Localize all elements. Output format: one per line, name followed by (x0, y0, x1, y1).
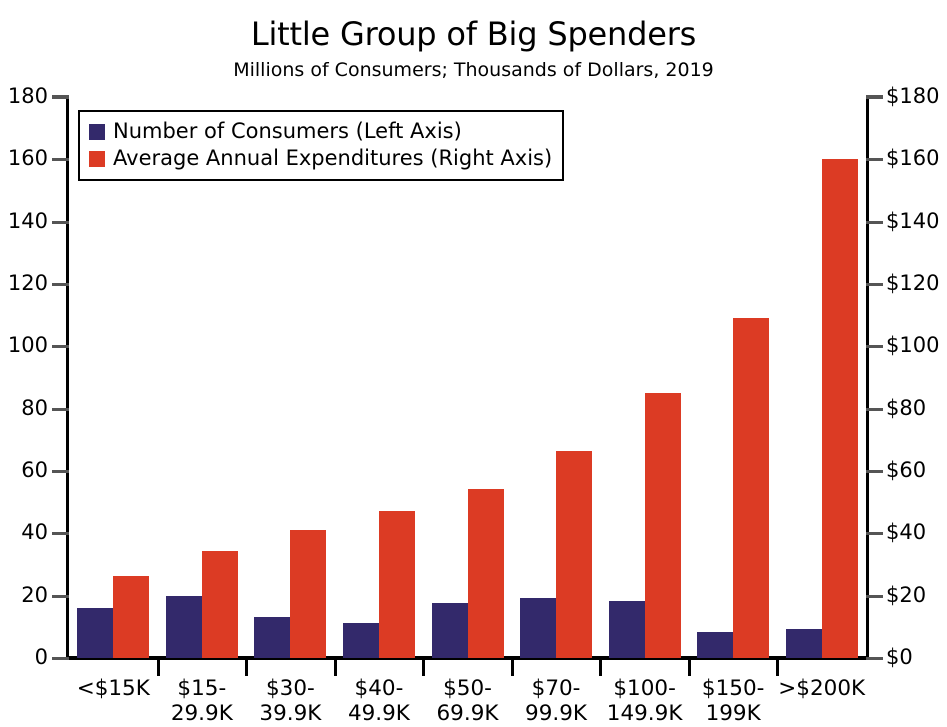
left-axis-tick-label: 160 (0, 148, 48, 169)
left-axis-tick-label: 180 (0, 86, 48, 107)
x-axis-category-label: $15- 29.9K (158, 676, 247, 726)
right-axis-tick (866, 470, 883, 473)
bar-group (520, 97, 592, 658)
x-axis-tick (776, 658, 779, 676)
right-axis-tick (866, 283, 883, 286)
left-axis-tick-label: 100 (0, 335, 48, 356)
left-axis-tick-label: 140 (0, 211, 48, 232)
x-axis-category-label: <$15K (69, 676, 158, 701)
x-axis-tick (157, 658, 160, 676)
left-axis-tick (52, 532, 69, 535)
left-axis-tick (52, 221, 69, 224)
bar-consumers[interactable] (343, 623, 379, 658)
right-axis-tick-label: $120 (886, 273, 947, 294)
bar-consumers[interactable] (254, 617, 290, 658)
chart-container: Little Group of Big Spenders Millions of… (0, 0, 947, 727)
bar-consumers[interactable] (432, 603, 468, 658)
left-axis-tick (52, 595, 69, 598)
legend-swatch-consumers-icon (89, 124, 105, 140)
bar-group (697, 97, 769, 658)
bar-consumers[interactable] (786, 629, 822, 658)
left-axis-tick (52, 96, 69, 99)
right-axis-tick-label: $140 (886, 211, 947, 232)
right-axis-tick (866, 532, 883, 535)
left-axis-tick (52, 408, 69, 411)
right-axis-tick-label: $100 (886, 335, 947, 356)
bar-expenditures[interactable] (202, 551, 238, 658)
right-axis-tick-label: $40 (886, 522, 947, 543)
bar-expenditures[interactable] (379, 511, 415, 658)
x-axis-category-label: $30- 39.9K (246, 676, 335, 726)
chart-subtitle: Millions of Consumers; Thousands of Doll… (0, 61, 947, 81)
x-axis-category-label: $150- 199K (689, 676, 778, 726)
bar-group (77, 97, 149, 658)
bar-consumers[interactable] (520, 598, 556, 658)
legend-item-consumers[interactable]: Number of Consumers (Left Axis) (89, 118, 552, 145)
right-axis-tick-label: $160 (886, 148, 947, 169)
bar-group (609, 97, 681, 658)
x-axis-category-label: $50- 69.9K (423, 676, 512, 726)
x-axis-category-label: >$200K (777, 676, 866, 701)
left-axis-tick-label: 40 (0, 522, 48, 543)
bar-consumers[interactable] (697, 632, 733, 658)
legend-item-expenditures[interactable]: Average Annual Expenditures (Right Axis) (89, 145, 552, 172)
left-axis-tick-label: 0 (0, 647, 48, 668)
bar-expenditures[interactable] (556, 451, 592, 658)
x-axis-category-label: $70- 99.9K (512, 676, 601, 726)
x-axis-tick (245, 658, 248, 676)
bar-group (786, 97, 858, 658)
left-axis-tick-label: 80 (0, 398, 48, 419)
left-axis-tick (52, 283, 69, 286)
x-axis-labels: <$15K$15- 29.9K$30- 39.9K$40- 49.9K$50- … (69, 676, 866, 727)
bar-group (432, 97, 504, 658)
right-axis-tick (866, 345, 883, 348)
bar-group (254, 97, 326, 658)
bar-groups (69, 97, 866, 658)
bar-consumers[interactable] (166, 596, 202, 658)
left-axis-tick-label: 20 (0, 585, 48, 606)
x-axis-tick (422, 658, 425, 676)
bar-consumers[interactable] (77, 608, 113, 658)
right-axis-tick-label: $60 (886, 460, 947, 481)
x-axis-tick (511, 658, 514, 676)
right-axis-tick (866, 657, 883, 660)
left-axis-tick (52, 470, 69, 473)
x-axis-tick (688, 658, 691, 676)
right-axis-tick-label: $80 (886, 398, 947, 419)
bar-group (343, 97, 415, 658)
bar-expenditures[interactable] (290, 530, 326, 658)
bar-group (166, 97, 238, 658)
right-axis-tick-label: $0 (886, 647, 947, 668)
legend-swatch-expenditures-icon (89, 151, 105, 167)
bar-expenditures[interactable] (822, 159, 858, 658)
right-axis-tick (866, 408, 883, 411)
bar-expenditures[interactable] (645, 393, 681, 658)
left-axis-tick (52, 345, 69, 348)
legend-label-consumers: Number of Consumers (Left Axis) (113, 121, 462, 142)
chart-title: Little Group of Big Spenders (0, 18, 947, 52)
right-axis-tick (866, 595, 883, 598)
bar-expenditures[interactable] (733, 318, 769, 658)
x-axis-category-label: $100- 149.9K (600, 676, 689, 726)
x-axis-tick (334, 658, 337, 676)
bar-expenditures[interactable] (113, 576, 149, 658)
left-axis-tick (52, 158, 69, 161)
left-axis-tick (52, 657, 69, 660)
right-axis-tick-label: $20 (886, 585, 947, 606)
legend-label-expenditures: Average Annual Expenditures (Right Axis) (113, 148, 552, 169)
bar-consumers[interactable] (609, 601, 645, 658)
left-axis-tick-label: 120 (0, 273, 48, 294)
left-axis-tick-label: 60 (0, 460, 48, 481)
right-axis-tick (866, 221, 883, 224)
right-axis-tick-label: $180 (886, 86, 947, 107)
right-axis-tick (866, 158, 883, 161)
x-axis-category-label: $40- 49.9K (335, 676, 424, 726)
right-axis-tick (866, 96, 883, 99)
x-axis-tick (599, 658, 602, 676)
bar-expenditures[interactable] (468, 489, 504, 658)
chart-legend: Number of Consumers (Left Axis) Average … (78, 110, 564, 181)
